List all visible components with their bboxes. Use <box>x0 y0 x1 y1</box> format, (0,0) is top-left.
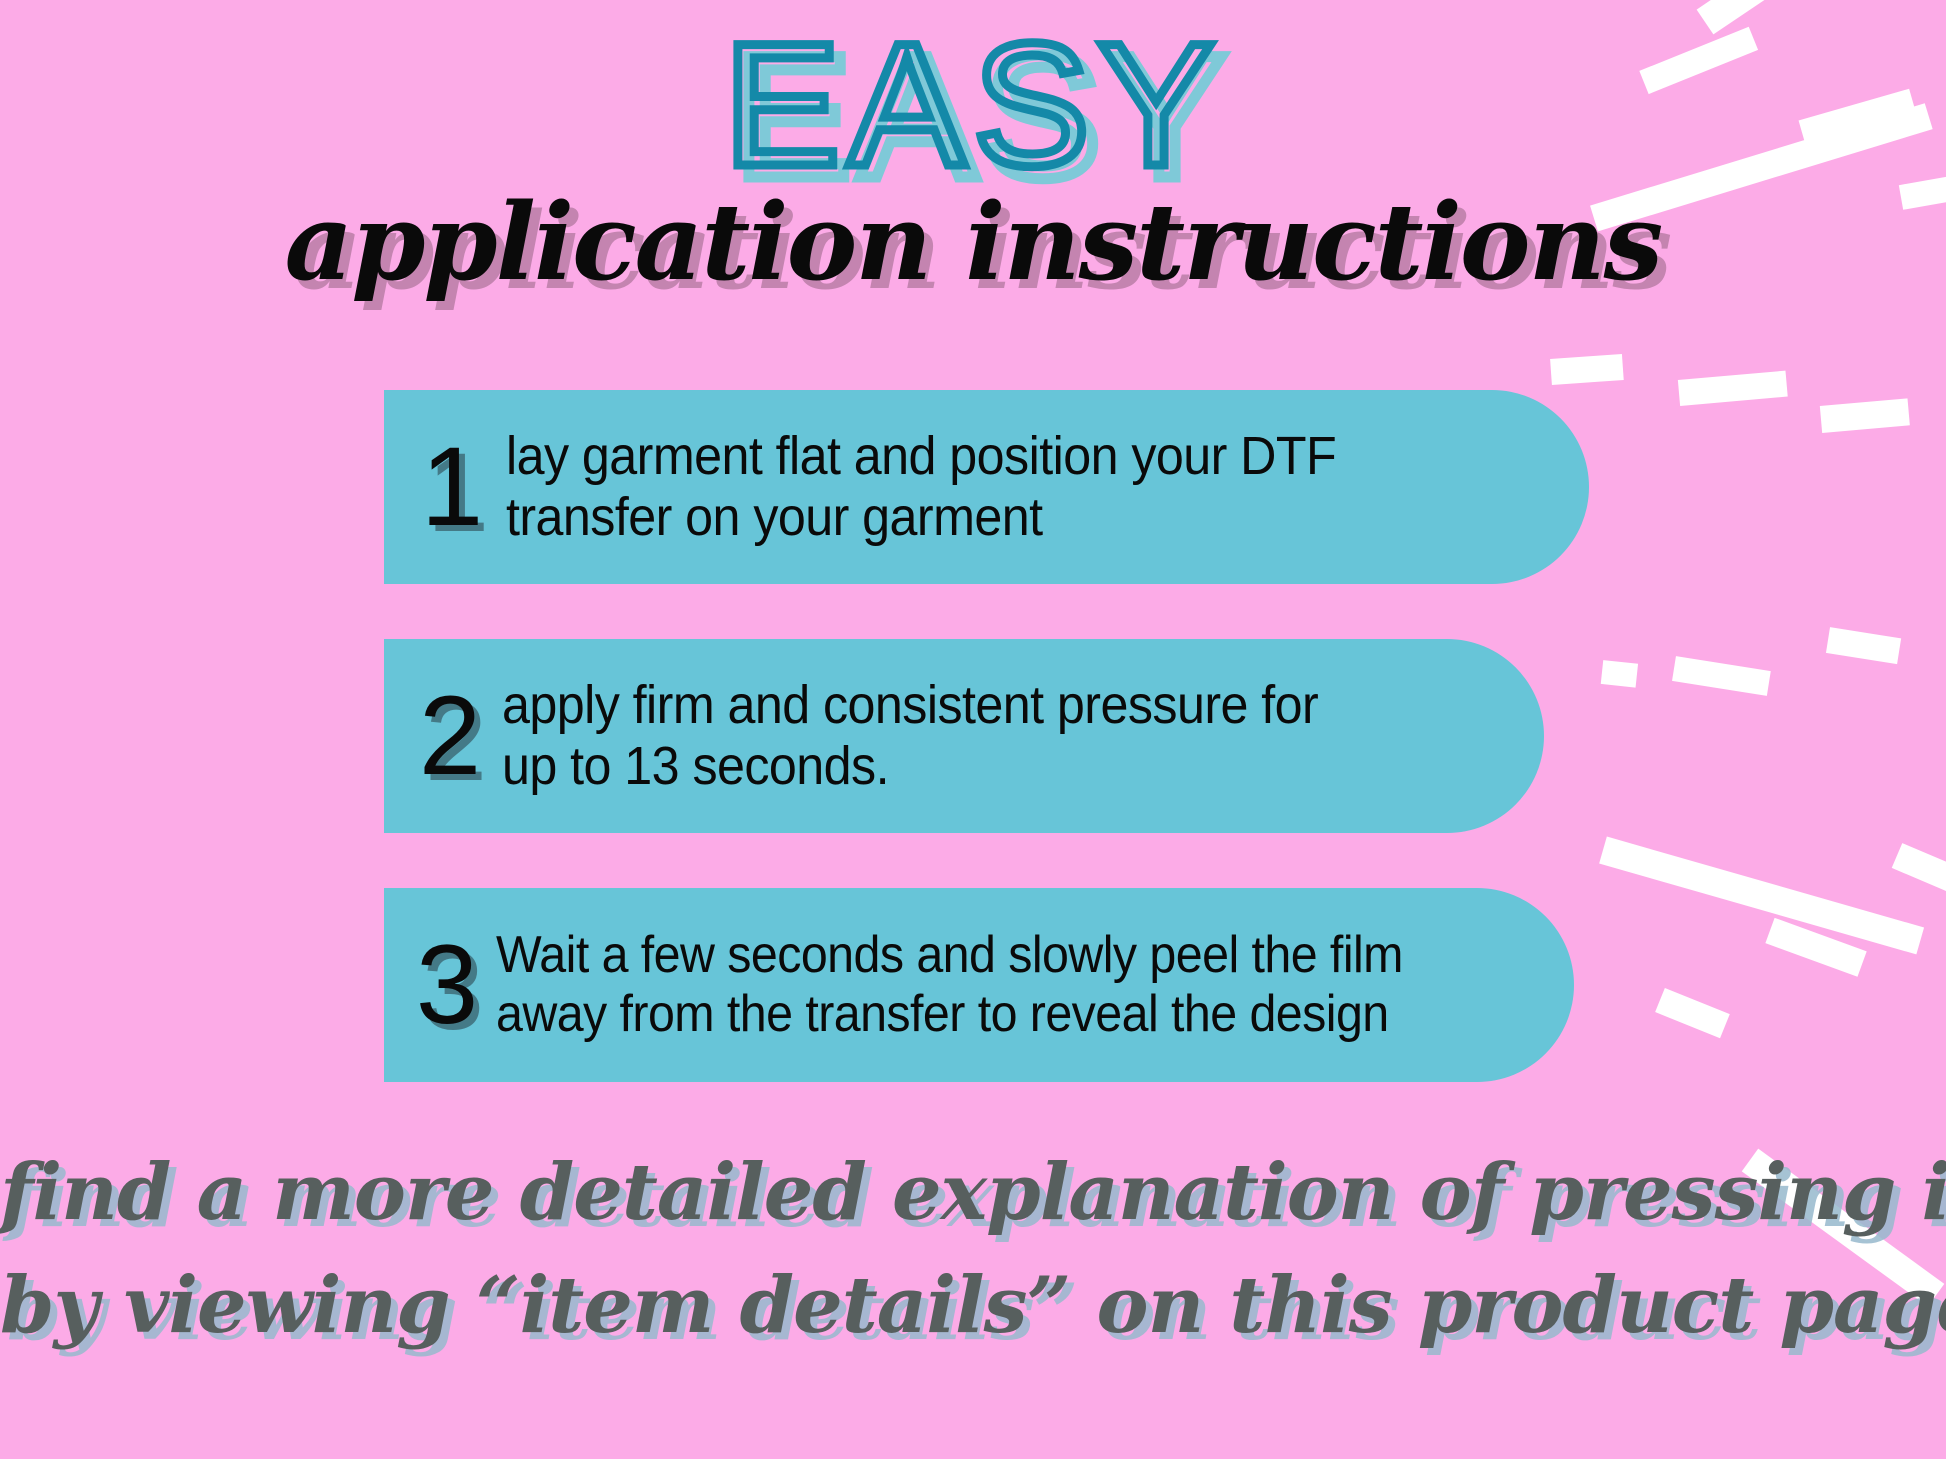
step-item-3: 3 Wait a few seconds and slowly peel the… <box>384 888 1574 1082</box>
step-number-1: 1 <box>402 431 502 543</box>
step-item-1: 1 lay garment flat and position your DTF… <box>384 390 1589 584</box>
sunburst-ray <box>1672 656 1771 696</box>
sunburst-ray <box>1892 843 1946 891</box>
step-text-3: Wait a few seconds and slowly peel the f… <box>496 926 1499 1044</box>
sunburst-ray <box>1601 660 1638 688</box>
sunburst-ray <box>1820 398 1910 433</box>
footer-line-2: by viewing “item details” on this produc… <box>0 1249 1946 1362</box>
step-text-3-line-2: away from the transfer to reveal the des… <box>496 985 1499 1044</box>
sunburst-ray <box>1655 988 1730 1038</box>
headline-group: EASY EASY <box>0 14 1946 204</box>
sunburst-ray <box>1826 627 1901 664</box>
step-text-1-line-1: lay garment flat and position your DTF <box>506 426 1513 487</box>
step-number-3: 3 <box>402 929 492 1041</box>
step-text-2-line-2: up to 13 seconds. <box>502 736 1471 797</box>
sunburst-ray <box>1599 837 1924 955</box>
step-text-2-line-1: apply firm and consistent pressure for <box>502 675 1471 736</box>
sunburst-ray <box>1678 371 1788 406</box>
step-number-2: 2 <box>402 680 498 792</box>
step-text-3-line-1: Wait a few seconds and slowly peel the f… <box>496 926 1499 985</box>
footer-note: find a more detailed explanation of pres… <box>0 1136 1946 1362</box>
footer-line-1: find a more detailed explanation of pres… <box>0 1136 1946 1249</box>
step-item-2: 2 apply firm and consistent pressure for… <box>384 639 1544 833</box>
poster-canvas: EASY EASY application instructions 1 lay… <box>0 0 1946 1459</box>
page-subtitle: application instructions <box>0 186 1946 297</box>
step-text-1-line-2: transfer on your garment <box>506 487 1513 548</box>
page-title: EASY <box>0 18 1946 193</box>
sunburst-ray <box>1765 917 1866 976</box>
step-text-2: apply firm and consistent pressure for u… <box>502 675 1471 797</box>
sunburst-ray <box>1550 354 1624 385</box>
step-text-1: lay garment flat and position your DTF t… <box>506 426 1513 548</box>
